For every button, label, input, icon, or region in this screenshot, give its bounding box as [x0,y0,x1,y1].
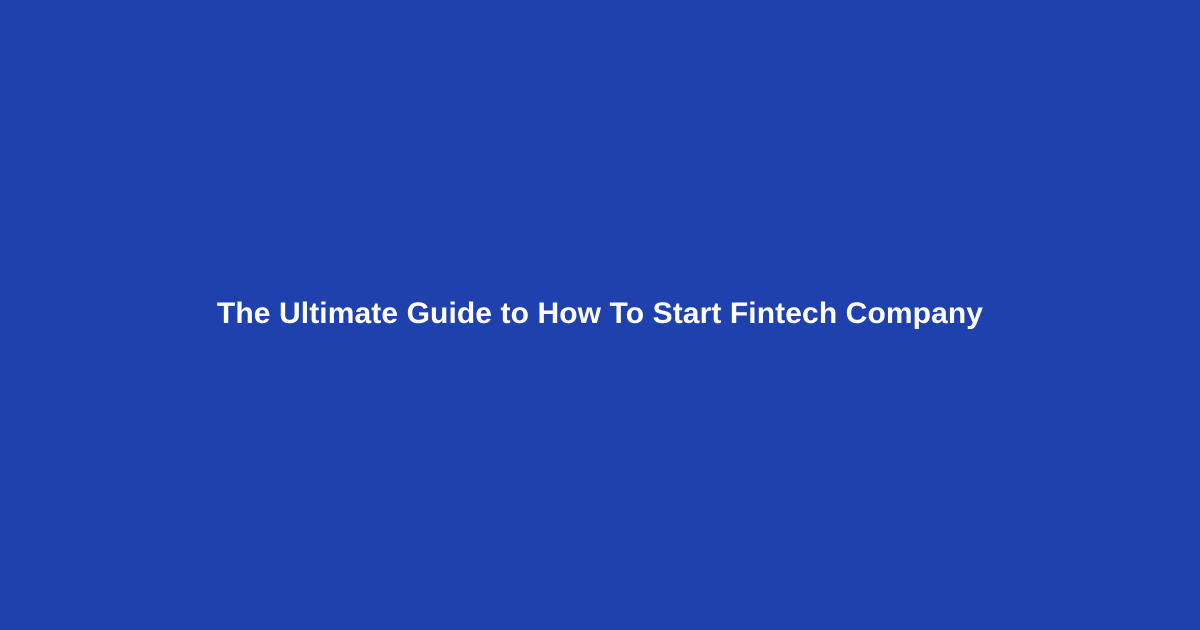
page-title: The Ultimate Guide to How To Start Finte… [217,295,983,333]
title-container: The Ultimate Guide to How To Start Finte… [80,295,1120,333]
share-card: The Ultimate Guide to How To Start Finte… [0,0,1200,630]
